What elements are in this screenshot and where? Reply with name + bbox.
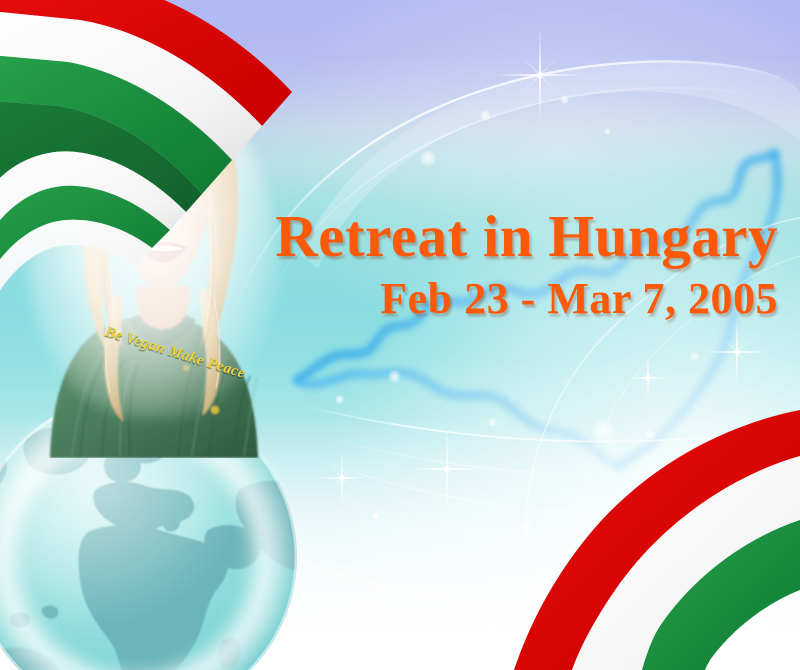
poster-canvas: Be Vegan Make Peace xyxy=(0,0,800,670)
background-gradient xyxy=(0,0,800,670)
